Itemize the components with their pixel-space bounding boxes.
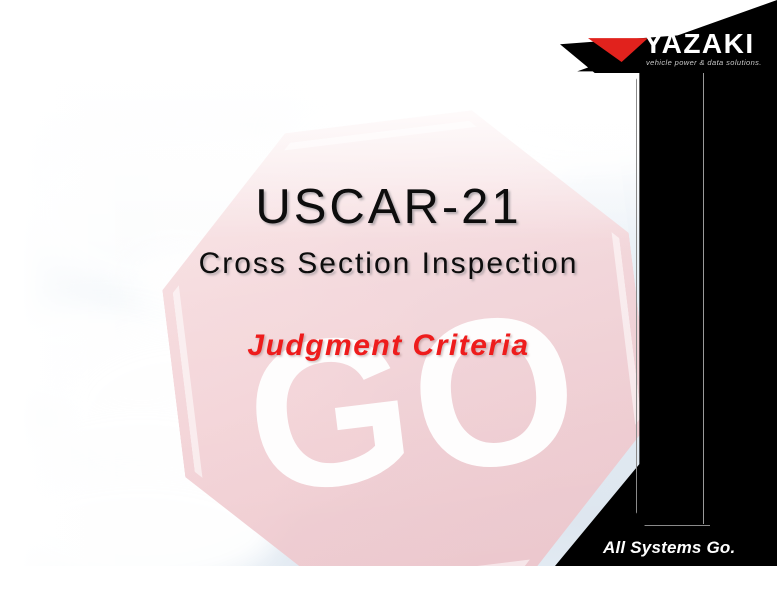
footer-tagline-text: All Systems Go [603, 538, 731, 557]
slide-title: USCAR-21 [0, 183, 777, 232]
page-margin-left [0, 0, 22, 600]
go-watermark-label: GO [167, 270, 659, 536]
yazaki-logo: YAZAKI vehicle power & data solutions. [560, 28, 777, 73]
slide-subtitle: Cross Section Inspection [0, 249, 777, 279]
frame-keyline [636, 66, 710, 526]
page-margin-bottom [0, 566, 777, 600]
footer-tagline: All Systems Go. [603, 539, 735, 556]
footer-tagline-mark: . [731, 538, 736, 557]
logo-tagline: vehicle power & data solutions. [646, 59, 762, 67]
presentation-slide: GO YAZAKI vehicle power & data solutions… [0, 0, 777, 600]
frame-keyline-right [703, 72, 704, 524]
left-haze-overlay [22, 0, 142, 566]
slide-accent-subtitle: Judgment Criteria [0, 331, 777, 361]
logo-wordmark: YAZAKI [644, 30, 755, 58]
